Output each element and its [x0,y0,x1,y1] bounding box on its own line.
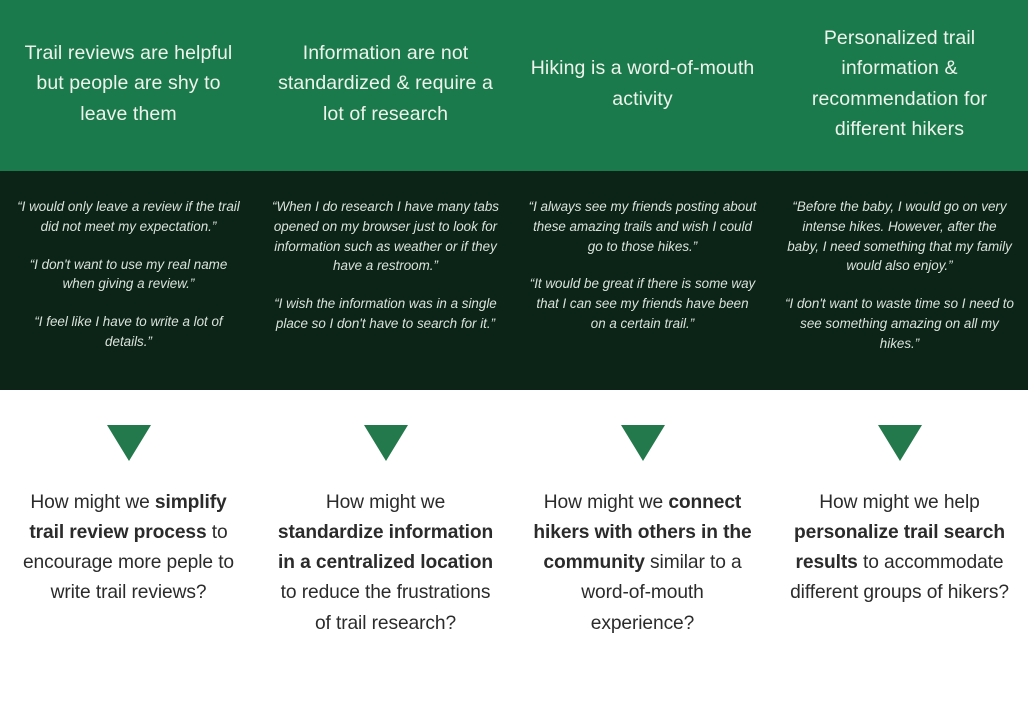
quote-cell-3: “I always see my friends posting about t… [514,171,771,390]
triangle-down-icon [621,425,665,461]
insight-cell-2: Information are not standardized & requi… [257,0,514,171]
insight-statement: Personalized trail information & recomme… [787,23,1012,144]
quote-cell-4: “Before the baby, I would go on very int… [771,171,1028,390]
user-quote: “I feel like I have to write a lot of de… [14,312,243,352]
hmw-band: How might we simplify trail review proce… [0,390,1028,710]
hmw-statement: How might we help personalize trail sear… [785,488,1014,609]
triangle-down-icon [364,425,408,461]
hmw-cell-4: How might we help personalize trail sear… [771,390,1028,609]
insight-statement: Hiking is a word-of-mouth activity [530,53,755,113]
insight-statement: Trail reviews are helpful but people are… [16,38,241,129]
quote-cell-2: “When I do research I have many tabs ope… [257,171,514,390]
insight-cell-4: Personalized trail information & recomme… [771,0,1028,171]
hmw-synthesis-board: Trail reviews are helpful but people are… [0,0,1028,710]
insight-statement: Information are not standardized & requi… [273,38,498,129]
triangle-down-icon [878,425,922,461]
user-quote: “I don't want to waste time so I need to… [785,294,1014,353]
user-quote: “I would only leave a review if the trai… [14,197,243,237]
hmw-lead: How might we [544,492,669,513]
hmw-lead: How might we [326,492,445,513]
user-quote: “I don't want to use my real name when g… [14,255,243,295]
hmw-statement: How might we standardize information in … [271,488,500,639]
hmw-emphasis: standardize information in a centralized… [278,522,493,573]
user-quote: “It would be great if there is some way … [528,274,757,333]
quote-cell-1: “I would only leave a review if the trai… [0,171,257,390]
hmw-statement: How might we connect hikers with others … [528,488,757,639]
hmw-cell-3: How might we connect hikers with others … [514,390,771,639]
quotes-band: “I would only leave a review if the trai… [0,171,1028,390]
triangle-down-icon [107,425,151,461]
user-quote: “Before the baby, I would go on very int… [785,197,1014,276]
insight-cell-1: Trail reviews are helpful but people are… [0,0,257,171]
hmw-lead: How might we help [819,492,979,513]
hmw-statement: How might we simplify trail review proce… [14,488,243,609]
user-quote: “I always see my friends posting about t… [528,197,757,256]
insight-cell-3: Hiking is a word-of-mouth activity [514,0,771,171]
hmw-cell-1: How might we simplify trail review proce… [0,390,257,609]
hmw-tail: to reduce the frustrations of trail rese… [281,582,491,633]
insights-band: Trail reviews are helpful but people are… [0,0,1028,171]
user-quote: “When I do research I have many tabs ope… [271,197,500,276]
hmw-cell-2: How might we standardize information in … [257,390,514,639]
hmw-lead: How might we [30,492,155,513]
user-quote: “I wish the information was in a single … [271,294,500,334]
